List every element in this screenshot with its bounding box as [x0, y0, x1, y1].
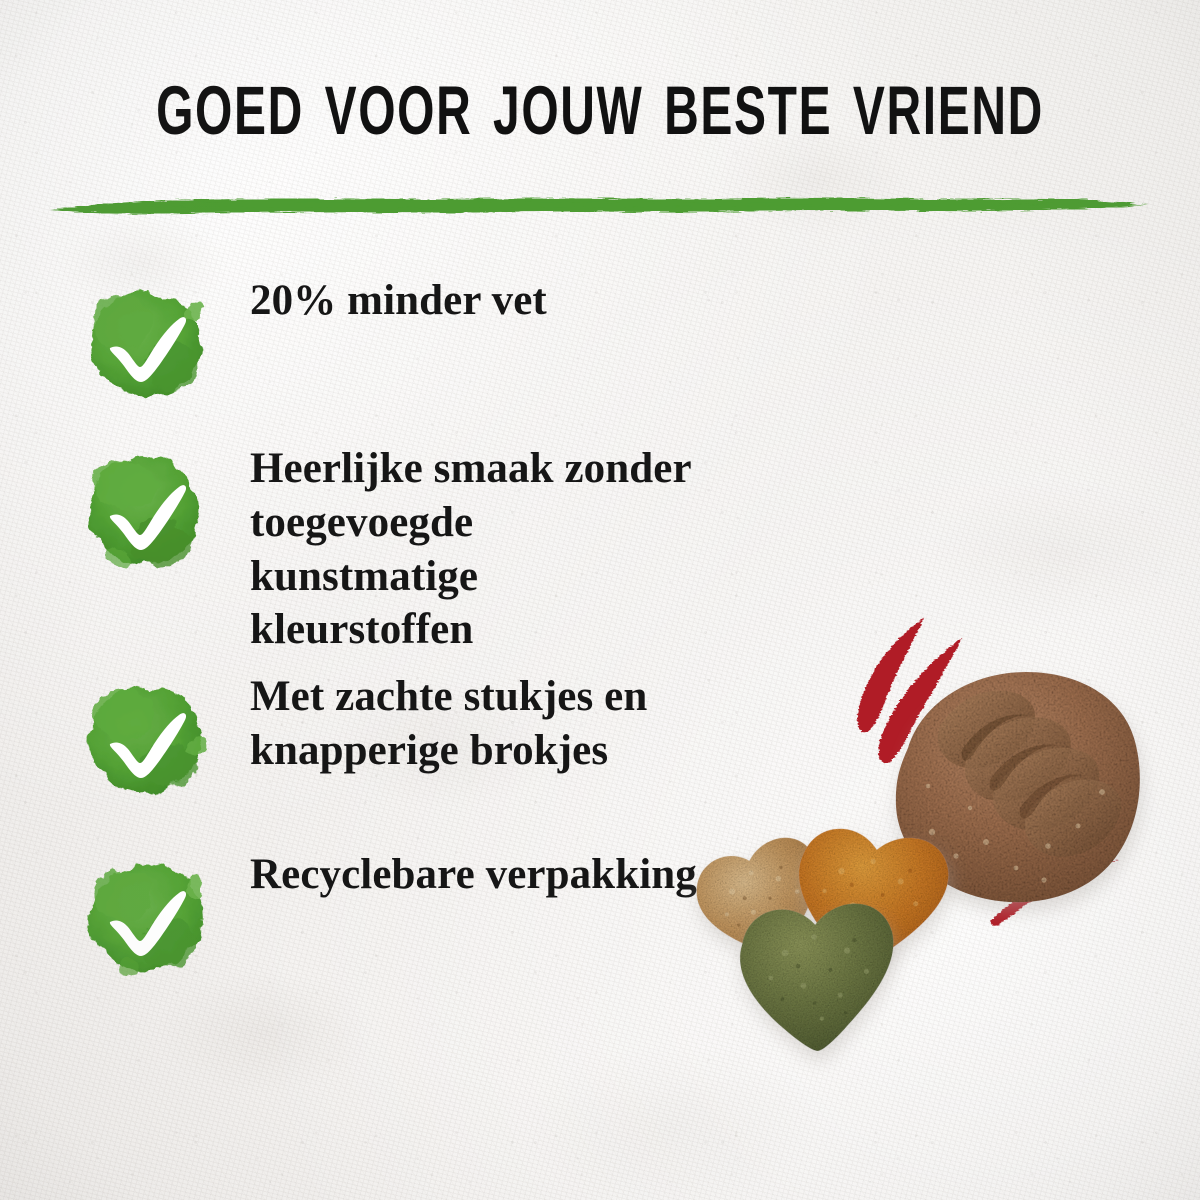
green-brush-underline [44, 186, 1156, 230]
check-icon [78, 848, 218, 988]
list-item-label: Heerlijke smaak zonder toegevoegde kunst… [250, 442, 698, 657]
kibble-photo-group [640, 580, 1200, 1120]
check-icon [78, 670, 218, 810]
check-icon [78, 274, 218, 414]
list-item: 20% minder vet [78, 274, 698, 414]
promo-poster: Goed voor jouw beste vriend [0, 0, 1200, 1200]
list-item: Met zachte stukjes en knapperige brokjes [78, 670, 698, 810]
list-item-label: Recyclebare verpakking [250, 848, 698, 902]
page-title: Goed voor jouw beste vriend [120, 52, 1080, 150]
green-heart [737, 901, 901, 1056]
list-item: Heerlijke smaak zonder toegevoegde kunst… [78, 442, 698, 657]
check-icon [78, 442, 218, 582]
list-item-label: 20% minder vet [250, 274, 698, 328]
list-item-label: Met zachte stukjes en knapperige brokjes [250, 670, 698, 778]
list-item: Recyclebare verpakking [78, 848, 698, 988]
